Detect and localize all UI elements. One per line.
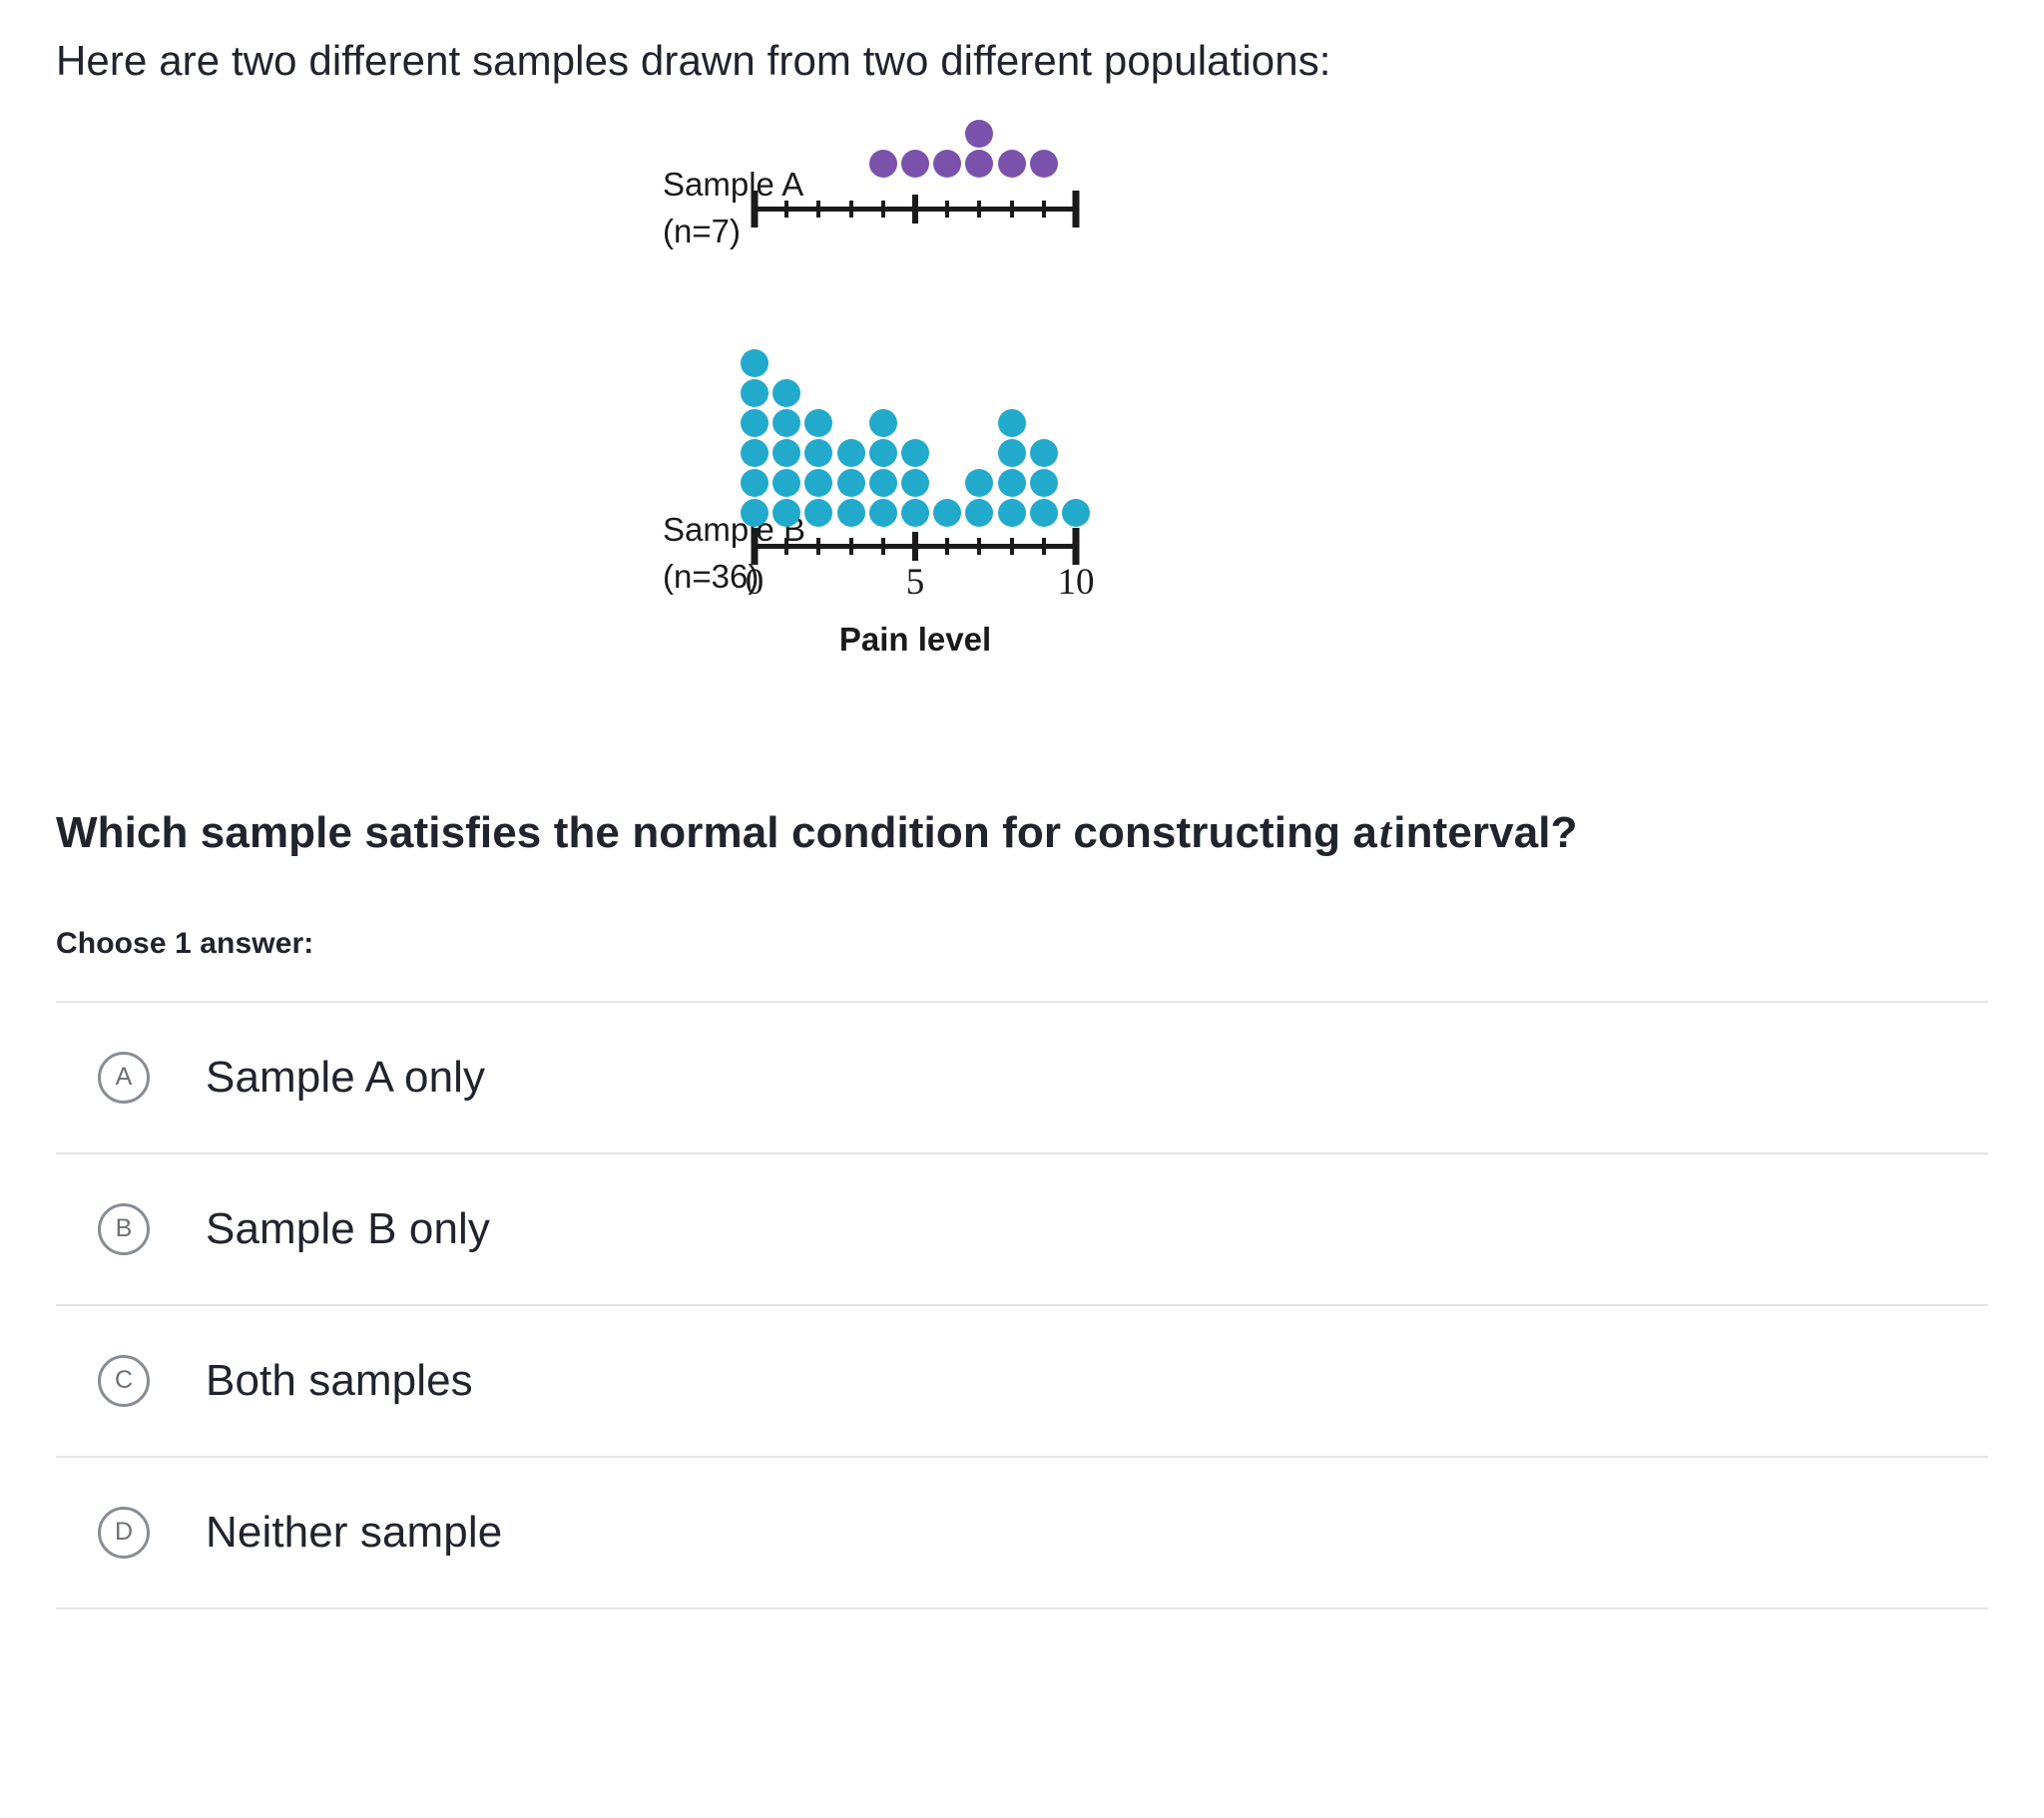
choose-answer-label: Choose 1 answer:: [56, 927, 1988, 961]
sample-a-dots: [755, 110, 1076, 192]
data-dot: [1030, 499, 1058, 527]
data-dot: [998, 439, 1026, 467]
data-dot: [965, 120, 993, 148]
figure-container: Sample A (n=7) Sample B (n=36) 0510 Pain…: [56, 110, 1988, 798]
axis-tick: [816, 538, 820, 555]
axis-tick-label: 5: [906, 561, 925, 604]
data-dot: [837, 499, 865, 527]
data-dot: [901, 150, 929, 178]
axis-tick: [752, 528, 759, 565]
data-dot: [965, 469, 993, 497]
axis-tick: [784, 201, 788, 218]
answer-option-a[interactable]: ASample A only: [56, 1003, 1988, 1154]
question-text-after: interval?: [1393, 808, 1577, 857]
axis-tick: [977, 201, 981, 218]
data-dot: [741, 349, 768, 377]
option-label: Sample B only: [206, 1204, 490, 1254]
data-dot: [901, 469, 929, 497]
dotplot-figure: Sample A (n=7) Sample B (n=36) 0510 Pain…: [715, 110, 1333, 798]
answer-option-b[interactable]: BSample B only: [56, 1154, 1988, 1306]
data-dot: [869, 439, 897, 467]
data-dot: [741, 469, 768, 497]
data-dot: [998, 409, 1026, 437]
axis-tick-labels: 0510: [755, 561, 1076, 609]
answer-options-list: ASample A onlyBSample B onlyCBoth sample…: [56, 1001, 1988, 1609]
axis-tick: [1073, 191, 1080, 227]
axis-tick: [752, 191, 759, 227]
data-dot: [965, 499, 993, 527]
axis-tick: [945, 538, 949, 555]
axis-tick: [1010, 538, 1014, 555]
axis-tick-label: 0: [746, 561, 765, 604]
axis-tick: [945, 201, 949, 218]
option-letter-badge[interactable]: B: [98, 1203, 150, 1255]
data-dot: [741, 439, 768, 467]
axis-tick: [977, 538, 981, 555]
sample-b-number-line: [755, 529, 1076, 563]
data-dot: [837, 439, 865, 467]
data-dot: [901, 499, 929, 527]
prompt-text: Here are two different samples drawn fro…: [56, 0, 1988, 88]
data-dot: [804, 439, 832, 467]
data-dot: [869, 150, 897, 178]
option-letter-badge[interactable]: C: [98, 1355, 150, 1407]
sample-b-dots: [755, 259, 1076, 529]
axis-tick: [849, 538, 853, 555]
option-label: Both samples: [206, 1356, 473, 1406]
data-dot: [869, 499, 897, 527]
data-dot: [1062, 499, 1090, 527]
axis-tick-label: 10: [1058, 561, 1095, 604]
data-dot: [933, 150, 961, 178]
sample-a-number-line: [755, 192, 1076, 226]
axis-tick: [1042, 538, 1046, 555]
axis-tick: [1010, 201, 1014, 218]
option-label: Sample A only: [206, 1053, 485, 1103]
answer-option-c[interactable]: CBoth samples: [56, 1306, 1988, 1458]
axis-title: Pain level: [755, 621, 1076, 659]
question-variable: t: [1377, 808, 1393, 857]
data-dot: [772, 499, 800, 527]
data-dot: [741, 409, 768, 437]
axis-tick: [1042, 201, 1046, 218]
data-dot: [998, 499, 1026, 527]
data-dot: [901, 439, 929, 467]
data-dot: [804, 409, 832, 437]
option-label: Neither sample: [206, 1508, 502, 1558]
question-page: Here are two different samples drawn fro…: [0, 0, 2044, 1818]
data-dot: [1030, 469, 1058, 497]
data-dot: [933, 499, 961, 527]
data-dot: [998, 150, 1026, 178]
data-dot: [741, 379, 768, 407]
axis-tick: [784, 538, 788, 555]
data-dot: [772, 409, 800, 437]
axis-tick: [881, 201, 885, 218]
option-letter-badge[interactable]: D: [98, 1507, 150, 1559]
axis-tick: [849, 201, 853, 218]
data-dot: [1030, 439, 1058, 467]
data-dot: [772, 439, 800, 467]
data-dot: [804, 499, 832, 527]
axis-tick: [816, 201, 820, 218]
axis-tick: [912, 532, 918, 561]
data-dot: [772, 469, 800, 497]
axis-tick: [881, 538, 885, 555]
data-dot: [998, 469, 1026, 497]
data-dot: [965, 150, 993, 178]
data-dot: [804, 469, 832, 497]
data-dot: [837, 469, 865, 497]
data-dot: [869, 409, 897, 437]
data-dot: [741, 499, 768, 527]
data-dot: [869, 469, 897, 497]
answer-option-d[interactable]: DNeither sample: [56, 1458, 1988, 1609]
option-letter-badge[interactable]: A: [98, 1052, 150, 1104]
question-text: Which sample satisfies the normal condit…: [56, 804, 1988, 861]
data-dot: [1030, 150, 1058, 178]
axis-tick: [912, 195, 918, 224]
question-text-before: Which sample satisfies the normal condit…: [56, 808, 1377, 857]
axis-tick: [1073, 528, 1080, 565]
data-dot: [772, 379, 800, 407]
